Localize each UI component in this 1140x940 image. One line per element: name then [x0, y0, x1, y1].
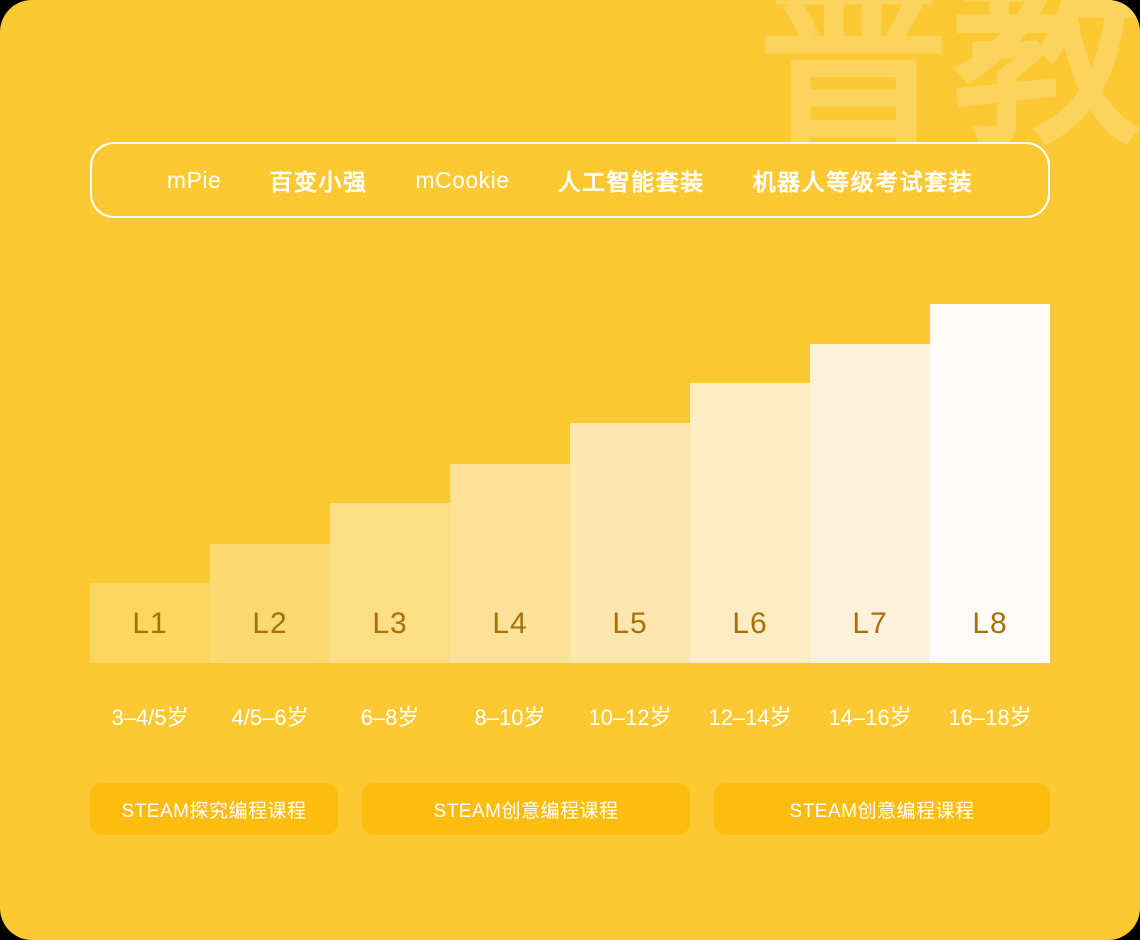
bar-l4[interactable]: L4	[450, 464, 570, 663]
age-range-row: 3–4/5岁 4/5–6岁 6–8岁 8–10岁 10–12岁 12–14岁 1…	[90, 700, 1050, 732]
bar-l5[interactable]: L5	[570, 423, 690, 663]
age-range-l6: 12–14岁	[690, 700, 810, 732]
bar-l6[interactable]: L6	[690, 383, 810, 663]
bar-label-l8: L8	[972, 607, 1007, 663]
age-range-l7: 14–16岁	[810, 700, 930, 732]
bar-l8[interactable]: L8	[930, 304, 1050, 663]
bar-label-l1: L1	[132, 607, 167, 663]
tag-robot-exam-kit[interactable]: 机器人等级考试套装	[729, 163, 998, 197]
bar-l1[interactable]: L1	[90, 583, 210, 663]
tag-ai-kit[interactable]: 人工智能套装	[534, 163, 729, 197]
tag-mpie[interactable]: mPie	[143, 167, 245, 194]
bar-label-l5: L5	[612, 607, 647, 663]
product-tag-bar: mPie 百变小强 mCookie 人工智能套装 机器人等级考试套装	[90, 142, 1050, 218]
bar-label-l2: L2	[252, 607, 287, 663]
bar-l7[interactable]: L7	[810, 344, 930, 663]
age-range-l3: 6–8岁	[330, 700, 450, 732]
bar-label-l3: L3	[372, 607, 407, 663]
course-level-card: 普教 mPie 百变小强 mCookie 人工智能套装 机器人等级考试套装 L1…	[0, 0, 1140, 940]
course-button-creative-2[interactable]: STEAM创意编程课程	[714, 783, 1050, 835]
course-button-explore[interactable]: STEAM探究编程课程	[90, 783, 338, 835]
age-range-l2: 4/5–6岁	[210, 700, 330, 732]
bar-l3[interactable]: L3	[330, 503, 450, 663]
bar-l2[interactable]: L2	[210, 544, 330, 663]
bar-label-l4: L4	[492, 607, 527, 663]
age-range-l5: 10–12岁	[570, 700, 690, 732]
course-button-creative-1[interactable]: STEAM创意编程课程	[362, 783, 690, 835]
course-button-row: STEAM探究编程课程 STEAM创意编程课程 STEAM创意编程课程	[90, 783, 1050, 835]
tag-mcookie[interactable]: mCookie	[391, 167, 533, 194]
bar-label-l7: L7	[852, 607, 887, 663]
tag-baibian[interactable]: 百变小强	[245, 163, 391, 197]
level-bar-chart: L1 L2 L3 L4 L5 L6 L7 L8	[90, 280, 1050, 663]
bar-label-l6: L6	[732, 607, 767, 663]
age-range-l1: 3–4/5岁	[90, 700, 210, 732]
age-range-l8: 16–18岁	[930, 700, 1050, 732]
age-range-l4: 8–10岁	[450, 700, 570, 732]
watermark-text: 普教	[758, 0, 1140, 156]
